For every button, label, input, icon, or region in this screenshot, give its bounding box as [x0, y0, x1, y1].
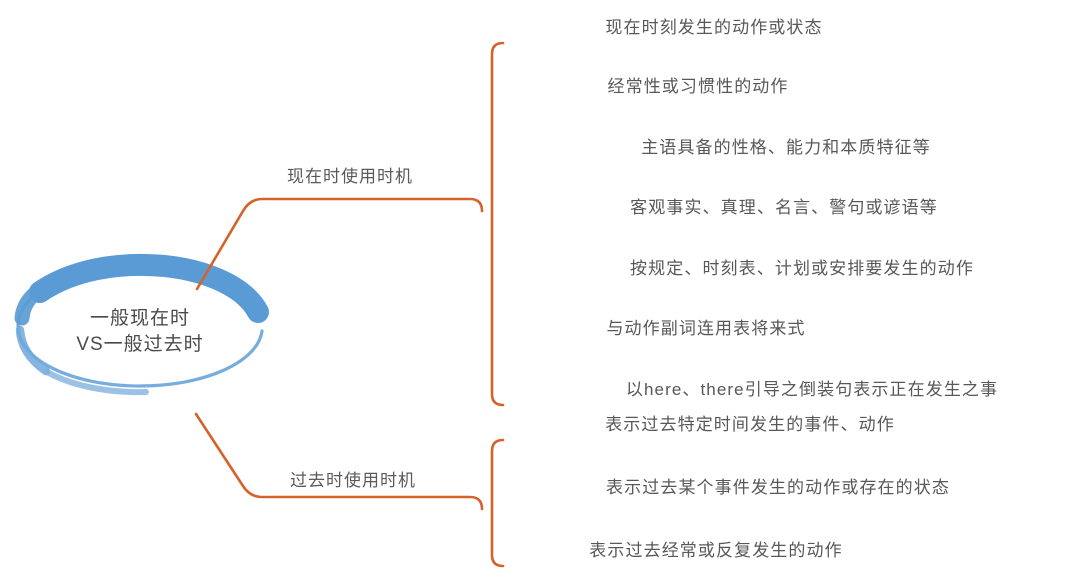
leaf-label-present-2[interactable]: 经常性或习惯性的动作 [608, 72, 789, 97]
leaf-label-present-4[interactable]: 客观事实、真理、名言、警句或谚语等 [630, 193, 938, 218]
leaf-label-past-3[interactable]: 表示过去经常或反复发生的动作 [589, 536, 842, 561]
connector-lines [0, 0, 1080, 587]
mindmap-canvas: 一般现在时 VS一般过去时 现在时使用时机 过去时使用时机 现在时刻发生的动作或… [0, 0, 1080, 587]
leaf-label-present-1[interactable]: 现在时刻发生的动作或状态 [605, 13, 822, 38]
spine-upper [492, 43, 503, 405]
trunk-lower [196, 414, 482, 509]
leaf-label-present-3[interactable]: 主语具备的性格、能力和本质特征等 [641, 133, 931, 158]
branch-label-present[interactable]: 现在时使用时机 [287, 162, 413, 187]
spine-lower [492, 440, 503, 566]
leaf-label-past-1[interactable]: 表示过去特定时间发生的事件、动作 [605, 410, 895, 435]
leaf-label-present-5[interactable]: 按规定、时刻表、计划或安排要发生的动作 [630, 254, 974, 279]
leaf-label-present-7[interactable]: 以here、there引导之倒装句表示正在发生之事 [626, 375, 998, 400]
trunk-upper [197, 199, 482, 289]
leaf-label-past-2[interactable]: 表示过去某个事件发生的动作或存在的状态 [606, 473, 950, 498]
leaf-label-present-6[interactable]: 与动作副词连用表将来式 [606, 314, 805, 339]
center-node-label: 一般现在时 VS一般过去时 [14, 306, 266, 358]
branch-label-past[interactable]: 过去时使用时机 [290, 466, 416, 491]
